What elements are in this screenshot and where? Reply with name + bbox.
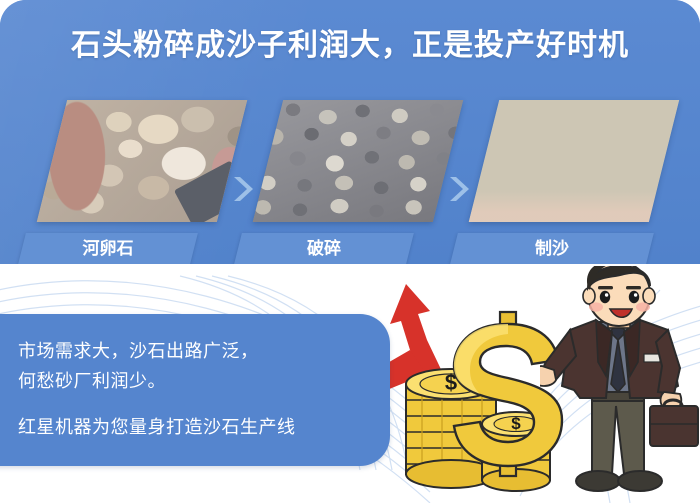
- step-tab-label: 河卵石: [22, 233, 194, 264]
- step-photo-crushed-gravel: [253, 100, 463, 222]
- businessman-icon: [540, 266, 700, 503]
- message-body: 市场需求大，沙石出路广泛， 何愁砂厂利润少。 红星机器为您量身打造沙石生产线: [18, 336, 374, 442]
- svg-text:$: $: [511, 414, 521, 433]
- step-tab-river-pebble[interactable]: 河卵石: [18, 233, 198, 264]
- message-card: 市场需求大，沙石出路广泛， 何愁砂厂利润少。 红星机器为您量身打造沙石生产线: [0, 314, 390, 466]
- message-tagline: 红星机器为您量身打造沙石生产线: [18, 412, 374, 442]
- river-pebble-photo: [37, 100, 247, 222]
- step-tab-label: 制沙: [454, 233, 650, 264]
- message-line-2: 何愁砂厂利润少。: [18, 366, 374, 396]
- step-photo-river-pebble: [37, 100, 247, 222]
- finished-sand-photo: [469, 100, 679, 222]
- step-photo-finished-sand: [469, 100, 679, 222]
- step-tab-crushing[interactable]: 破碎: [234, 233, 414, 264]
- step-tab-label: 破碎: [238, 233, 410, 264]
- chevron-right-icon: [448, 176, 470, 202]
- chevron-right-icon: [232, 176, 254, 202]
- briefcase-icon: [650, 400, 698, 446]
- page-title: 石头粉碎成沙子利润大，正是投产好时机: [0, 26, 700, 66]
- crushed-gravel-photo: [253, 100, 463, 222]
- header-banner: 石头粉碎成沙子利润大，正是投产好时机 河卵石 破碎 制沙: [0, 0, 700, 264]
- message-line-1: 市场需求大，沙石出路广泛，: [18, 336, 374, 366]
- promo-poster: 石头粉碎成沙子利润大，正是投产好时机 河卵石 破碎 制沙: [0, 0, 700, 503]
- step-tab-sand-making[interactable]: 制沙: [450, 233, 654, 264]
